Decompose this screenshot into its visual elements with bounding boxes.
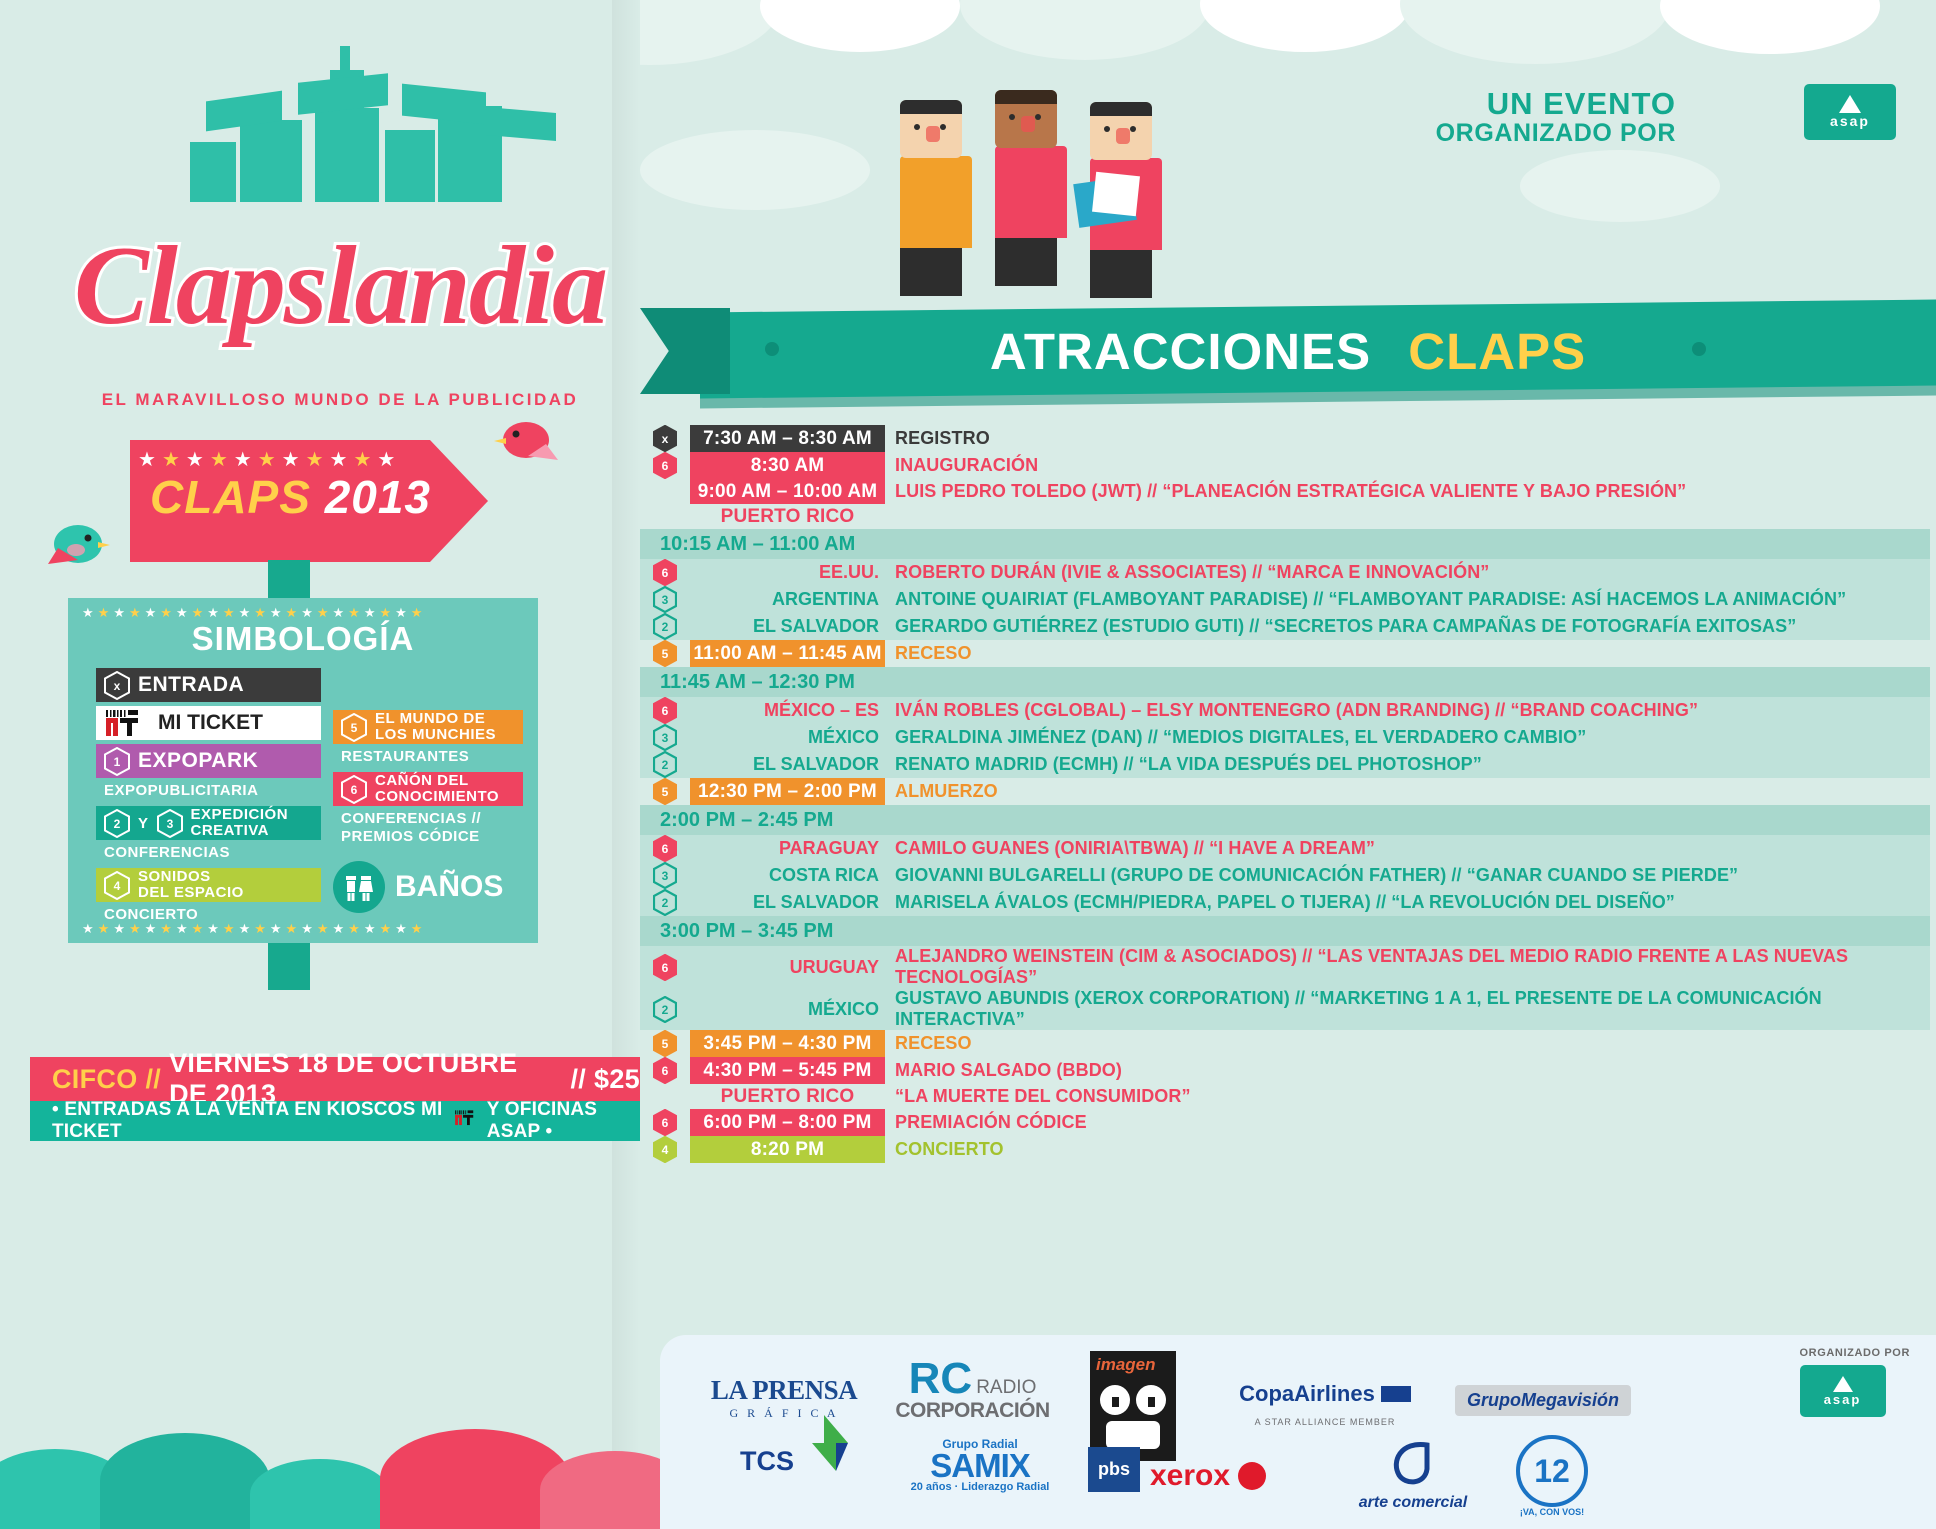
sponsor-megavision: GrupoMegavisión <box>1455 1385 1631 1416</box>
hex-6-icon: 6 <box>653 1057 677 1084</box>
schedule-time: 4:30 PM – 5:45 PM <box>690 1057 885 1084</box>
sponsor-tcs-name: TCS <box>740 1446 794 1477</box>
schedule-row[interactable]: 9:00 AM – 10:00 AMLUIS PEDRO TOLEDO (JWT… <box>640 479 1930 504</box>
schedule-badge: 6 <box>640 1109 690 1136</box>
legend-item-expedicion-creativa[interactable]: 2 Y 3 EXPEDICIÓN CREATIVA <box>96 806 321 840</box>
hex-2-icon: 2 <box>653 996 677 1023</box>
schedule-talk-title: ROBERTO DURÁN (IVIE & ASSOCIATES) // “MA… <box>885 559 1930 586</box>
legend-expopark-note: EXPOPUBLICITARIA <box>104 782 321 799</box>
hex-6-icon: 6 <box>653 697 677 724</box>
sponsors-asap-logo: asap <box>1800 1365 1886 1417</box>
legend-item-expopark[interactable]: 1 EXPOPARK <box>96 744 321 778</box>
schedule-talk-title: GUSTAVO ABUNDIS (XEROX CORPORATION) // “… <box>885 988 1930 1030</box>
schedule-talk-title: ANTOINE QUAIRIAT (FLAMBOYANT PARADISE) /… <box>885 586 1930 613</box>
schedule-session-time: 10:15 AM – 11:00 AM <box>640 529 885 559</box>
schedule-talk-row[interactable]: 6PARAGUAYCAMILO GUANES (ONIRIA\TBWA) // … <box>640 835 1930 862</box>
schedule-badge: 6 <box>640 452 690 479</box>
footer-venue: CIFCO <box>52 1064 138 1095</box>
schedule-session-time: 2:00 PM – 2:45 PM <box>640 805 885 835</box>
schedule-talk-country: EL SALVADOR <box>690 889 885 916</box>
sponsor-la-prensa-name: LA PRENSA <box>694 1375 874 1406</box>
legend-left-column: x ENTRADA <box>96 668 321 930</box>
schedule-title: INAUGURACIÓN <box>885 452 1930 479</box>
hex-x-icon: x <box>104 671 130 700</box>
schedule-talk-title: MARISELA ÁVALOS (ECMH/PIEDRA, PAPEL O TI… <box>885 889 1930 916</box>
sponsors-asap-word: asap <box>1824 1392 1862 1407</box>
legend-banos-label: BAÑOS <box>395 870 503 904</box>
schedule-country: PUERTO RICO <box>690 504 885 529</box>
sign-text: CLAPS 2013 <box>150 470 450 524</box>
schedule-session-time: 11:45 AM – 12:30 PM <box>640 667 885 697</box>
hex-6-icon: 6 <box>653 954 677 981</box>
schedule-badge: 6 <box>640 697 690 724</box>
schedule-title: REGISTRO <box>885 425 1930 452</box>
schedule-row[interactable]: 66:00 PM – 8:00 PMPREMIACIÓN CÓDICE <box>640 1109 1930 1136</box>
svg-text:x: x <box>662 432 669 446</box>
mascot-illustration <box>900 90 1200 320</box>
svg-text:6: 6 <box>662 961 669 975</box>
svg-text:1: 1 <box>114 755 121 769</box>
legend-title: SIMBOLOGÍA <box>68 620 538 658</box>
schedule-time: 8:30 AM <box>690 452 885 479</box>
svg-text:2: 2 <box>662 1003 669 1017</box>
schedule-talk-row[interactable]: 2MÉXICOGUSTAVO ABUNDIS (XEROX CORPORATIO… <box>640 988 1930 1030</box>
legend-expopark-label: EXPOPARK <box>138 749 258 773</box>
schedule-row[interactable]: 48:20 PMCONCIERTO <box>640 1136 1930 1163</box>
schedule-talk-country: PARAGUAY <box>690 835 885 862</box>
hex-6-icon: 6 <box>653 1109 677 1136</box>
hex-5-icon: 5 <box>653 640 677 667</box>
mi-ticket-inline-icon <box>454 1109 480 1133</box>
footer-sep-1: // <box>146 1064 162 1095</box>
sponsor-megavision-name: GrupoMegavisión <box>1455 1385 1631 1416</box>
schedule-badge: 6 <box>640 1057 690 1084</box>
legend-sonidos-line1: SONIDOS <box>138 868 211 885</box>
schedule-badge: 6 <box>640 946 690 988</box>
legend-item-mundo-munchies[interactable]: 5 EL MUNDO DE LOS MUNCHIES <box>333 710 523 744</box>
schedule-badge: 2 <box>640 889 690 916</box>
hex-4-icon: 4 <box>653 1136 677 1163</box>
schedule-time: 9:00 AM – 10:00 AM <box>690 479 885 504</box>
bush-decoration <box>0 1409 660 1529</box>
ribbon-title: ATRACCIONES CLAPS <box>640 322 1936 381</box>
svg-text:4: 4 <box>114 879 121 893</box>
schedule-badge-empty <box>640 504 690 529</box>
hex-1-icon: 1 <box>104 747 130 776</box>
svg-text:6: 6 <box>662 842 669 856</box>
schedule-talk-row[interactable]: 2EL SALVADORGERARDO GUTIÉRREZ (ESTUDIO G… <box>640 613 1930 640</box>
sponsor-radio-corporacion: RC RADIO CORPORACIÓN <box>885 1359 1060 1423</box>
hex-5-icon: 5 <box>653 778 677 805</box>
legend-mi-ticket-label: MI TICKET <box>158 711 263 735</box>
footer-tickets-post: Y OFICINAS ASAP • <box>487 1099 640 1143</box>
legend-item-banos[interactable]: BAÑOS <box>333 861 523 913</box>
hex-3-icon: 3 <box>653 586 677 613</box>
svg-text:5: 5 <box>662 647 669 661</box>
schedule-badge: 5 <box>640 640 690 667</box>
brand-logo: Clapslandia EL MARAVILLOSO MUNDO DE LA P… <box>60 60 620 380</box>
footer-price: $25 <box>594 1064 640 1095</box>
legend-conjunction: Y <box>138 815 149 832</box>
schedule-title: LUIS PEDRO TOLEDO (JWT) // “PLANEACIÓN E… <box>885 479 1930 504</box>
hex-2-icon: 2 <box>653 751 677 778</box>
bird-icon-right <box>488 418 558 473</box>
organizer-block: UN EVENTO ORGANIZADO POR asap <box>1436 88 1676 146</box>
hex-5-icon: 5 <box>341 713 367 742</box>
schedule-talk-country: EL SALVADOR <box>690 751 885 778</box>
svg-text:2: 2 <box>114 817 121 831</box>
legend-expedicion-note: CONFERENCIAS <box>104 844 321 861</box>
schedule-badge: 5 <box>640 1030 690 1057</box>
asap-triangle-icon <box>1839 95 1861 113</box>
footer-sep-2: // <box>570 1064 586 1095</box>
asap-triangle-icon-footer <box>1833 1376 1853 1392</box>
schedule-title-empty <box>885 504 1930 529</box>
legend-sonidos-label: SONIDOS DEL ESPACIO <box>138 869 244 901</box>
schedule-row[interactable]: 512:30 PM – 2:00 PMALMUERZO <box>640 778 1930 805</box>
schedule-talk-title: GERARDO GUTIÉRREZ (ESTUDIO GUTI) // “SEC… <box>885 613 1930 640</box>
schedule-badge: 4 <box>640 1136 690 1163</box>
schedule-title: RECESO <box>885 640 1930 667</box>
hex-2-icon: 2 <box>653 613 677 640</box>
sign-year-label: 2013 <box>325 471 431 523</box>
footer-tickets-pre: • ENTRADAS A LA VENTA EN KIOSCOS MI TICK… <box>52 1099 447 1143</box>
sponsor-arte-name: arte comercial <box>1328 1494 1498 1512</box>
sponsor-pbs-name: pbs <box>1088 1447 1140 1492</box>
footer-venue-bar: CIFCO // VIERNES 18 DE OCTUBRE DE 2013 /… <box>30 1057 640 1101</box>
legend-stars-top: ★★★★★★★★★★★★★★★★★★★★★★ <box>82 606 528 619</box>
schedule-badge: 5 <box>640 778 690 805</box>
svg-text:5: 5 <box>662 785 669 799</box>
svg-text:3: 3 <box>662 731 669 745</box>
schedule-country: PUERTO RICO <box>690 1084 885 1109</box>
sponsor-copa-airlines: CopaAirlines A STAR ALLIANCE MEMBER <box>1220 1381 1430 1427</box>
legend-canon-note-2: PREMIOS CÓDICE <box>341 828 523 845</box>
svg-text:x: x <box>114 679 121 693</box>
asap-logo: asap <box>1804 84 1896 140</box>
schedule-talk-title: RENATO MADRID (ECMH) // “LA VIDA DESPUÉS… <box>885 751 1930 778</box>
hex-3-icon: 3 <box>653 862 677 889</box>
bird-icon-left <box>48 520 118 575</box>
schedule-badge: 3 <box>640 862 690 889</box>
hex-2-icon: 2 <box>653 889 677 916</box>
schedule-talk-row[interactable]: 6MÉXICO – ESIVÁN ROBLES (CGLOBAL) – ELSY… <box>640 697 1930 724</box>
legend-item-entrada[interactable]: x ENTRADA <box>96 668 321 702</box>
mascot-center <box>995 90 1075 286</box>
legend-sonidos-line2: DEL ESPACIO <box>138 884 244 901</box>
schedule-title: “LA MUERTE DEL CONSUMIDOR” <box>885 1084 1930 1109</box>
schedule-time: 12:30 PM – 2:00 PM <box>690 778 885 805</box>
schedule-row[interactable]: 64:30 PM – 5:45 PMMARIO SALGADO (BBDO) <box>640 1057 1930 1084</box>
sponsor-arte-comercial: arte comercial <box>1328 1439 1498 1512</box>
svg-text:5: 5 <box>662 1037 669 1051</box>
schedule-session-time: 3:00 PM – 3:45 PM <box>640 916 885 946</box>
schedule-time: 6:00 PM – 8:00 PM <box>690 1109 885 1136</box>
schedule-talk-row[interactable]: 6EE.UU.ROBERTO DURÁN (IVIE & ASSOCIATES)… <box>640 559 1930 586</box>
legend-munchies-line1: EL MUNDO DE <box>375 710 485 727</box>
sponsor-12-sub: ¡VA, CON VOS! <box>1516 1507 1588 1517</box>
logo-title: Clapslandia <box>60 230 620 342</box>
asap-word: asap <box>1830 113 1870 129</box>
svg-text:3: 3 <box>166 817 173 831</box>
legend-board: ★★★★★★★★★★★★★★★★★★★★★★ SIMBOLOGÍA x ENTR… <box>68 598 538 943</box>
schedule-badge: 2 <box>640 751 690 778</box>
sponsors-organized-caption: ORGANIZADO POR <box>1800 1347 1910 1359</box>
mi-ticket-logo-icon <box>104 710 150 737</box>
sponsor-imagen-name: imagen <box>1096 1355 1156 1375</box>
legend-item-canon-conocimiento[interactable]: 6 CAÑÓN DEL CONOCIMIENTO <box>333 772 523 806</box>
svg-text:6: 6 <box>351 783 358 797</box>
legend-munchies-label: EL MUNDO DE LOS MUNCHIES <box>375 711 496 743</box>
schedule-badge: 3 <box>640 586 690 613</box>
legend-entrada-label: ENTRADA <box>138 673 244 697</box>
hex-2-icon: 2 <box>104 809 130 838</box>
svg-text:6: 6 <box>662 459 669 473</box>
svg-text:6: 6 <box>662 704 669 718</box>
hex-3-icon: 3 <box>653 724 677 751</box>
schedule-row[interactable]: x7:30 AM – 8:30 AMREGISTRO <box>640 425 1930 452</box>
sponsor-copa-name: CopaAirlines <box>1239 1381 1375 1407</box>
schedule-talk-row[interactable]: 3MÉXICOGERALDINA JIMÉNEZ (DAN) // “MEDIO… <box>640 724 1930 751</box>
legend-munchies-line2: LOS MUNCHIES <box>375 726 496 743</box>
schedule-badge: 2 <box>640 613 690 640</box>
sponsor-tcs: TCS <box>740 1443 850 1479</box>
hex-6-icon: 6 <box>653 835 677 862</box>
hex-6-icon: 6 <box>653 452 677 479</box>
mascot-right <box>1090 102 1170 298</box>
schedule-table: x7:30 AM – 8:30 AMREGISTRO68:30 AMINAUGU… <box>640 425 1930 1163</box>
schedule-badge-empty <box>640 1084 690 1109</box>
schedule-row[interactable]: 68:30 AMINAUGURACIÓN <box>640 452 1930 479</box>
schedule-time: 8:20 PM <box>690 1136 885 1163</box>
schedule-talk-country: MÉXICO <box>690 724 885 751</box>
sign-stars: ★★★★★★★★★★★ <box>138 450 428 470</box>
right-column: UN EVENTO ORGANIZADO POR asap <box>640 0 1936 1529</box>
svg-text:4: 4 <box>662 1143 669 1157</box>
legend-canon-label: CAÑÓN DEL CONOCIMIENTO <box>375 773 499 805</box>
schedule-talk-row[interactable]: 2EL SALVADORMARISELA ÁVALOS (ECMH/PIEDRA… <box>640 889 1930 916</box>
schedule-talk-title: GIOVANNI BULGARELLI (GRUPO DE COMUNICACI… <box>885 862 1930 889</box>
schedule-badge: 6 <box>640 835 690 862</box>
legend-canon-line2: CONOCIMIENTO <box>375 788 499 805</box>
schedule-talk-row[interactable]: 3COSTA RICAGIOVANNI BULGARELLI (GRUPO DE… <box>640 862 1930 889</box>
attractions-ribbon: ATRACCIONES CLAPS <box>640 300 1936 410</box>
svg-text:3: 3 <box>662 593 669 607</box>
schedule-row[interactable]: 53:45 PM – 4:30 PMRECESO <box>640 1030 1930 1057</box>
schedule-talk-row[interactable]: 2EL SALVADORRENATO MADRID (ECMH) // “LA … <box>640 751 1930 778</box>
schedule-title: ALMUERZO <box>885 778 1930 805</box>
hex-6-icon: 6 <box>341 775 367 804</box>
logo-subtitle: EL MARAVILLOSO MUNDO DE LA PUBLICIDAD <box>60 390 620 410</box>
footer-tickets-bar: • ENTRADAS A LA VENTA EN KIOSCOS MI TICK… <box>30 1101 640 1141</box>
restroom-icon <box>333 861 385 913</box>
schedule-talk-title: ALEJANDRO WEINSTEIN (CIM & ASOCIADOS) //… <box>885 946 1930 988</box>
sponsors-organized-by: ORGANIZADO POR asap <box>1800 1347 1910 1417</box>
hex-3-icon: 3 <box>157 809 183 838</box>
schedule-talk-country: ARGENTINA <box>690 586 885 613</box>
sponsor-samix: Grupo Radial SAMIX 20 años · Liderazgo R… <box>900 1437 1060 1493</box>
svg-text:2: 2 <box>662 896 669 910</box>
sponsor-xerox-name: xerox <box>1150 1459 1230 1493</box>
schedule-title: CONCIERTO <box>885 1136 1930 1163</box>
sponsors-panel: LA PRENSA G R Á F I C A RC RADIO CORPORA… <box>660 1335 1936 1529</box>
legend-expedicion-label: EXPEDICIÓN CREATIVA <box>191 807 289 839</box>
schedule-badge: x <box>640 425 690 452</box>
organizer-line-1: UN EVENTO <box>1436 88 1676 120</box>
ribbon-word-atracciones: ATRACCIONES <box>990 323 1371 380</box>
schedule-talk-country: EL SALVADOR <box>690 613 885 640</box>
sponsor-xerox: xerox <box>1150 1459 1266 1493</box>
schedule-talk-country: COSTA RICA <box>690 862 885 889</box>
schedule-title: RECESO <box>885 1030 1930 1057</box>
schedule-talk-row[interactable]: 6URUGUAYALEJANDRO WEINSTEIN (CIM & ASOCI… <box>640 946 1930 988</box>
sponsor-rc-name: RC <box>909 1359 973 1399</box>
legend-item-sonidos-del-espacio[interactable]: 4 SONIDOS DEL ESPACIO <box>96 868 321 902</box>
schedule-session-header: 2:00 PM – 2:45 PM <box>640 805 1930 835</box>
legend-canon-note-1: CONFERENCIAS // <box>341 810 523 827</box>
poster-root: Clapslandia EL MARAVILLOSO MUNDO DE LA P… <box>0 0 1936 1529</box>
legend-expedicion-line2: CREATIVA <box>191 822 269 839</box>
organizer-line-2: ORGANIZADO POR <box>1436 120 1676 146</box>
svg-text:2: 2 <box>662 620 669 634</box>
schedule-talk-country: MÉXICO – ES <box>690 697 885 724</box>
schedule-talk-title: IVÁN ROBLES (CGLOBAL) – ELSY MONTENEGRO … <box>885 697 1930 724</box>
schedule-badge: 2 <box>640 988 690 1030</box>
ribbon-word-claps: CLAPS <box>1408 323 1586 380</box>
schedule-time: 7:30 AM – 8:30 AM <box>690 425 885 452</box>
svg-text:6: 6 <box>662 1064 669 1078</box>
svg-text:2: 2 <box>662 758 669 772</box>
schedule-talk-title: CAMILO GUANES (ONIRIA\TBWA) // “I HAVE A… <box>885 835 1930 862</box>
svg-text:6: 6 <box>662 566 669 580</box>
hex-6-icon: 6 <box>653 559 677 586</box>
sponsor-12-name: 12 <box>1516 1435 1588 1507</box>
schedule-talk-country: EE.UU. <box>690 559 885 586</box>
legend-canon-line1: CAÑÓN DEL <box>375 772 469 789</box>
legend-stars-bottom: ★★★★★★★★★★★★★★★★★★★★★★ <box>82 922 528 935</box>
sponsor-canal-12: 12 ¡VA, CON VOS! <box>1516 1435 1588 1517</box>
svg-text:6: 6 <box>662 1116 669 1130</box>
sponsor-pbs: pbs <box>1088 1447 1140 1492</box>
schedule-time: 11:00 AM – 11:45 AM <box>690 640 885 667</box>
schedule-badge: 3 <box>640 724 690 751</box>
schedule-talk-country: MÉXICO <box>690 988 885 1030</box>
mascot-left <box>900 100 980 296</box>
hex-5-icon: 5 <box>653 1030 677 1057</box>
schedule-talk-title: GERALDINA JIMÉNEZ (DAN) // “MEDIOS DIGIT… <box>885 724 1930 751</box>
hex-4-icon: 4 <box>104 871 130 900</box>
schedule-session-header: 10:15 AM – 11:00 AM <box>640 529 1930 559</box>
schedule-title: PREMIACIÓN CÓDICE <box>885 1109 1930 1136</box>
schedule-talk-country: URUGUAY <box>690 946 885 988</box>
schedule-talk-row[interactable]: 3ARGENTINAANTOINE QUAIRIAT (FLAMBOYANT P… <box>640 586 1930 613</box>
schedule-session-header: 11:45 AM – 12:30 PM <box>640 667 1930 697</box>
hex-x-icon: x <box>653 425 677 452</box>
schedule-badge-empty <box>640 479 690 504</box>
sign-claps-label: CLAPS <box>150 471 311 523</box>
legend-right-column: 5 EL MUNDO DE LOS MUNCHIES RESTAURANTES … <box>333 710 523 913</box>
schedule-badge: 6 <box>640 559 690 586</box>
schedule-title: MARIO SALGADO (BBDO) <box>885 1057 1930 1084</box>
schedule-time: 3:45 PM – 4:30 PM <box>690 1030 885 1057</box>
schedule-session-header: 3:00 PM – 3:45 PM <box>640 916 1930 946</box>
sponsor-imagen: imagen <box>1090 1351 1176 1461</box>
sponsor-samix-name: SAMIX <box>900 1451 1060 1481</box>
legend-expedicion-line1: EXPEDICIÓN <box>191 806 289 823</box>
schedule-row-country: PUERTO RICO“LA MUERTE DEL CONSUMIDOR” <box>640 1084 1930 1109</box>
sponsor-copa-sub: A STAR ALLIANCE MEMBER <box>1220 1417 1430 1427</box>
svg-text:5: 5 <box>351 721 358 735</box>
schedule-row-country: PUERTO RICO <box>640 504 1930 529</box>
legend-item-mi-ticket[interactable]: MI TICKET <box>96 706 321 740</box>
schedule-row[interactable]: 511:00 AM – 11:45 AMRECESO <box>640 640 1930 667</box>
svg-text:3: 3 <box>662 869 669 883</box>
legend-munchies-note: RESTAURANTES <box>341 748 523 765</box>
